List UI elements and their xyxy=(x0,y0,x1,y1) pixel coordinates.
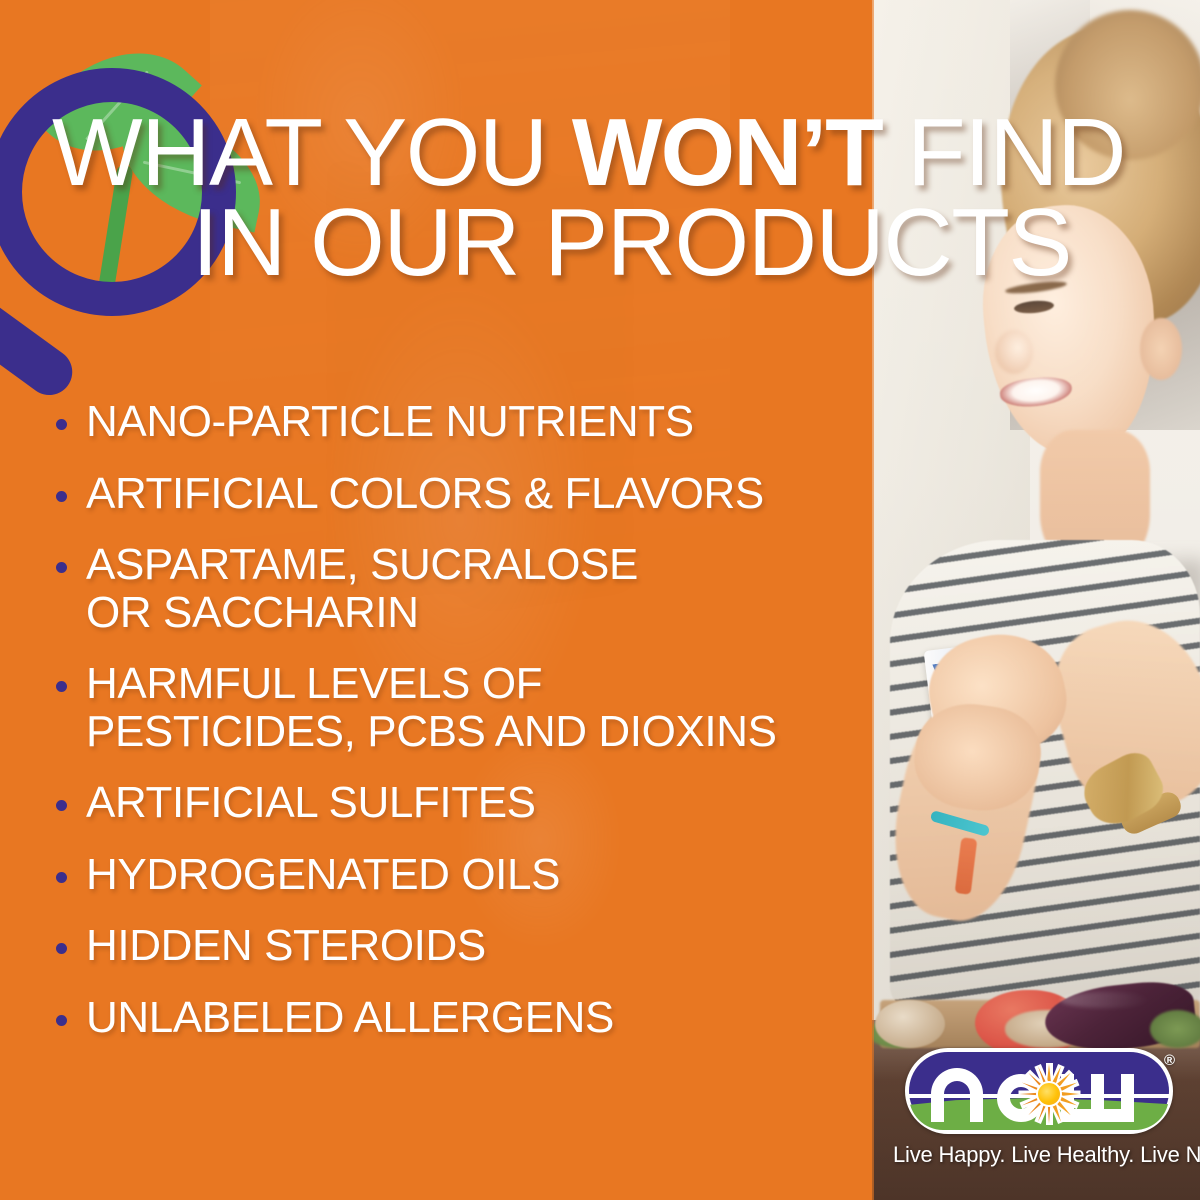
list-item-label: ARTIFICIAL COLORS & FLAVORS xyxy=(86,470,764,518)
letter-n-left xyxy=(931,1094,944,1122)
now-foods-logo: ® Live Happy. Live Healthy. Live NOW. xyxy=(893,1048,1185,1176)
list-item-label: UNLABELED ALLERGENS xyxy=(86,994,614,1042)
list-item-label: HIDDEN STEROIDS xyxy=(86,922,486,970)
green-vegetable-right xyxy=(1150,1010,1200,1048)
mushrooms-left xyxy=(875,1000,945,1048)
list-item: HYDROGENATED OILS xyxy=(56,851,856,899)
eggplant-highlight xyxy=(1060,992,1150,1008)
sunburst-icon xyxy=(1017,1062,1081,1126)
list-item: ASPARTAME, SUCRALOSE OR SACCHARIN xyxy=(56,541,856,636)
woman-ear xyxy=(1140,318,1182,380)
bullet-dot-icon xyxy=(56,943,67,954)
woman-nose xyxy=(995,330,1033,374)
list-item: HARMFUL LEVELS OF PESTICIDES, PCBS AND D… xyxy=(56,660,856,755)
headline-line-2: IN OUR PRODUCTS xyxy=(52,198,1182,288)
bullet-dot-icon xyxy=(56,681,67,692)
list-item: HIDDEN STEROIDS xyxy=(56,922,856,970)
letter-n-right xyxy=(970,1094,983,1122)
bullet-dot-icon xyxy=(56,1015,67,1026)
list-item-label: NANO-PARTICLE NUTRIENTS xyxy=(86,398,694,446)
list-item: ARTIFICIAL COLORS & FLAVORS xyxy=(56,470,856,518)
bullet-dot-icon xyxy=(56,800,67,811)
poster: WHAT YOU WON’T FIND IN OUR PRODUCTS NANO… xyxy=(0,0,1200,1200)
excluded-ingredients-list: NANO-PARTICLE NUTRIENTS ARTIFICIAL COLOR… xyxy=(56,398,856,1065)
brand-tagline: Live Happy. Live Healthy. Live NOW. xyxy=(893,1142,1185,1168)
bullet-dot-icon xyxy=(56,562,67,573)
bullet-dot-icon xyxy=(56,419,67,430)
list-item-label: ARTIFICIAL SULFITES xyxy=(86,779,536,827)
list-item-label: ASPARTAME, SUCRALOSE OR SACCHARIN xyxy=(86,541,638,636)
bullet-dot-icon xyxy=(56,491,67,502)
headline-line-1: WHAT YOU WON’T FIND xyxy=(52,108,1182,198)
list-item: NANO-PARTICLE NUTRIENTS xyxy=(56,398,856,446)
sun-core xyxy=(1036,1081,1062,1107)
list-item: UNLABELED ALLERGENS xyxy=(56,994,856,1042)
bullet-dot-icon xyxy=(56,872,67,883)
page-title: WHAT YOU WON’T FIND IN OUR PRODUCTS xyxy=(52,108,1182,288)
list-item: ARTIFICIAL SULFITES xyxy=(56,779,856,827)
now-wordmark: ® xyxy=(905,1048,1173,1134)
list-item-label: HYDROGENATED OILS xyxy=(86,851,560,899)
list-item-label: HARMFUL LEVELS OF PESTICIDES, PCBS AND D… xyxy=(86,660,777,755)
registered-trademark-icon: ® xyxy=(1164,1052,1175,1069)
